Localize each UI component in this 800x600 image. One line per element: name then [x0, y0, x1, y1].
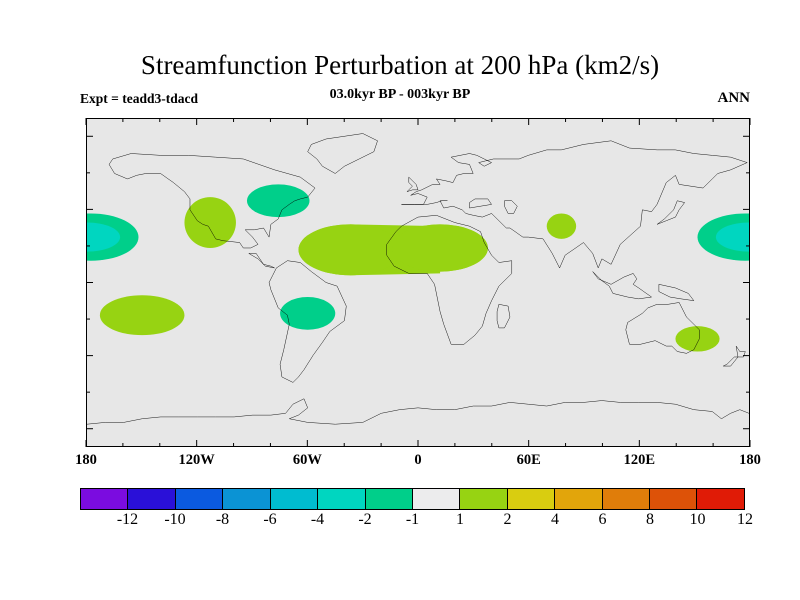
colorbar-cell-11: [603, 489, 650, 509]
x-axis-tick-label: 60W: [293, 452, 322, 469]
coastline-new-guinea: [659, 284, 694, 300]
contour-region-south-america-negative: [280, 297, 335, 330]
coastline-caspian: [504, 201, 517, 214]
contour-region-west-africa-positive-lobe: [392, 224, 488, 271]
colorbar-tick-label: 12: [737, 511, 753, 529]
x-axis-tick-label: 0: [414, 452, 421, 469]
coastline-japan: [657, 201, 685, 225]
coastline-black-sea: [469, 199, 491, 208]
colorbar-cell-7: [413, 489, 460, 509]
colorbar-tick-label: 6: [599, 511, 607, 529]
x-axis-tick-label: 180: [75, 452, 97, 469]
colorbar-cell-13: [697, 489, 743, 509]
world-map: [87, 119, 749, 446]
colorbar-cell-4: [271, 489, 318, 509]
contour-region-south-pacific-positive: [100, 295, 185, 335]
coastline-madagascar: [497, 304, 510, 328]
colorbar-cell-0: [81, 489, 128, 509]
colorbar-labels: -12-10-8-6-4-2-1124681012: [80, 511, 745, 535]
colorbar-cell-3: [223, 489, 270, 509]
colorbar-cell-6: [366, 489, 413, 509]
contour-region-northern-india-positive: [547, 213, 576, 238]
colorbar-cell-9: [508, 489, 555, 509]
colorbar-tick-label: -2: [358, 511, 371, 529]
contour-region-southeast-of-australia-positive: [675, 326, 719, 351]
coastline-greenland: [308, 134, 378, 174]
colorbar-tick-label: -1: [406, 511, 419, 529]
map-plot-area: [86, 118, 750, 447]
colorbar-tick-label: -8: [216, 511, 229, 529]
coastline-antarctica: [87, 399, 749, 424]
colorbar-tick-label: 8: [646, 511, 654, 529]
x-axis-tick-label: 60E: [517, 452, 541, 469]
colorbar-tick-label: -12: [117, 511, 138, 529]
colorbar-tick-label: 10: [690, 511, 706, 529]
colorbar-cell-8: [460, 489, 507, 509]
colorbar-tick-label: 1: [456, 511, 464, 529]
colorbar-tick-label: -6: [263, 511, 276, 529]
coastline-british-isles: [407, 177, 418, 192]
colorbar-cell-10: [555, 489, 602, 509]
coastline-indonesia: [593, 272, 652, 299]
contour-region-western-north-america-positive: [184, 197, 235, 248]
colorbar-tick-label: 4: [551, 511, 559, 529]
colorbar-tick-label: -4: [311, 511, 324, 529]
colorbar-cell-5: [318, 489, 365, 509]
page-title: Streamfunction Perturbation at 200 hPa (…: [0, 50, 800, 81]
figure: Streamfunction Perturbation at 200 hPa (…: [0, 0, 800, 600]
coastline-central-america: [249, 253, 275, 268]
season-label: ANN: [718, 90, 751, 107]
contour-region-great-lakes-negative: [247, 184, 310, 217]
contour-region-tropical-atlantic-positive-lobe: [298, 224, 401, 275]
coastline-new-zealand: [723, 346, 745, 366]
colorbar: [80, 488, 745, 510]
colorbar-cell-1: [128, 489, 175, 509]
colorbar-cell-2: [176, 489, 223, 509]
colorbar-tick-label: -10: [164, 511, 185, 529]
colorbar-cell-12: [650, 489, 697, 509]
period-label: 03.0kyr BP - 003kyr BP: [0, 87, 800, 103]
x-axis-tick-label: 120W: [179, 452, 215, 469]
x-axis-tick-label: 120E: [624, 452, 655, 469]
x-axis-tick-label: 180: [739, 452, 761, 469]
colorbar-tick-label: 2: [504, 511, 512, 529]
